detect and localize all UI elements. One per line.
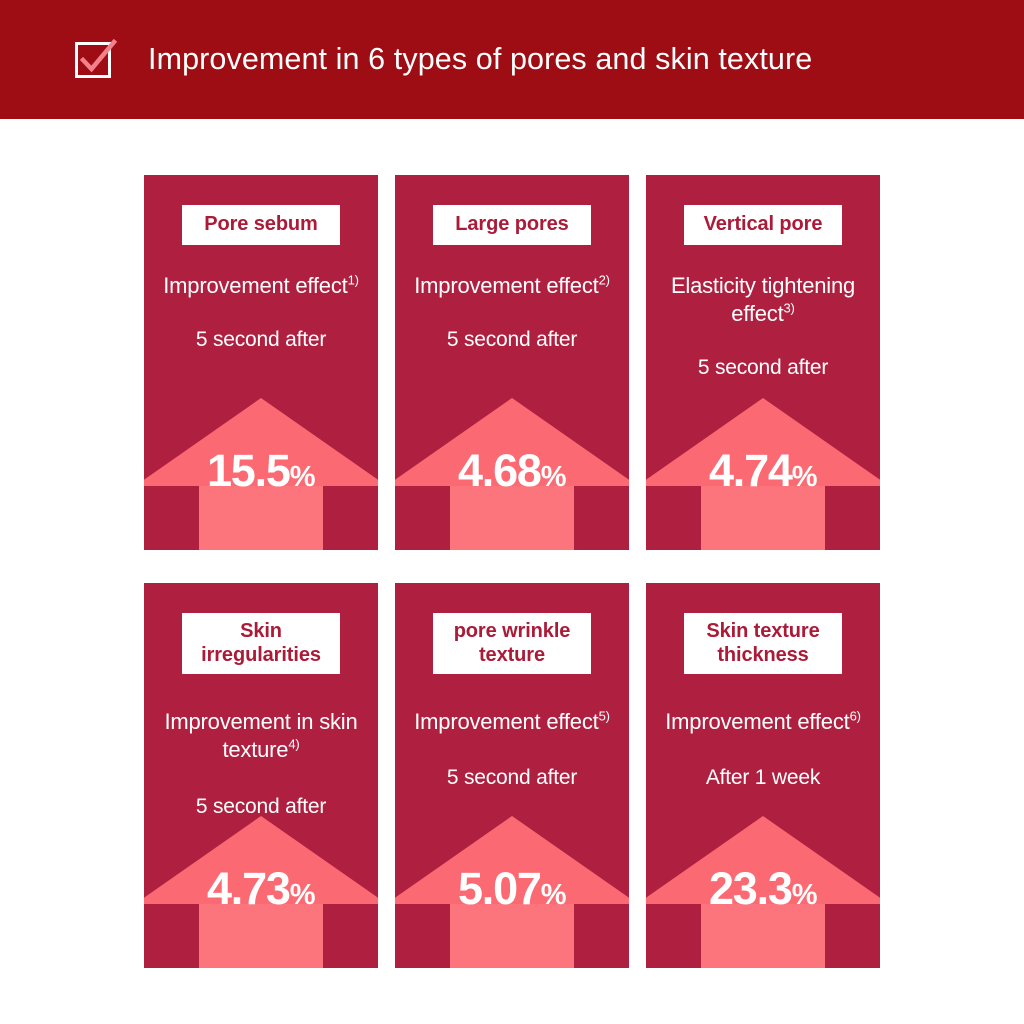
card-timing-label: 5 second after	[698, 356, 828, 380]
card-chip-label: Pore sebum	[182, 205, 340, 245]
card-chip-label: Vertical pore	[684, 205, 842, 245]
card-chip-line-1: pore wrinkle	[447, 620, 577, 644]
card-skin-texture-thickness: Skin texture thickness Improvement effec…	[646, 583, 880, 968]
card-value-number: 4.68	[458, 445, 541, 496]
card-value-number: 23.3	[709, 863, 792, 914]
card-footnote-marker: 3)	[784, 300, 795, 315]
card-chip-label: Skin irregularities	[182, 613, 340, 674]
card-value-percent: %	[792, 879, 817, 911]
card-measure-label: Improvement effect2)	[414, 272, 609, 300]
card-value: 4.68%	[395, 448, 629, 493]
card-measure-text: Improvement effect	[665, 709, 849, 734]
card-value-percent: %	[290, 461, 315, 493]
card-measure-label: Improvement effect6)	[665, 708, 860, 736]
card-footnote-marker: 1)	[348, 272, 359, 287]
header-banner: Improvement in 6 types of pores and skin…	[0, 0, 1024, 119]
card-value: 23.3%	[646, 866, 880, 911]
card-measure-label: Improvement in skin texture4)	[160, 708, 362, 764]
card-value: 5.07%	[395, 866, 629, 911]
card-measure-text: Improvement effect	[414, 273, 598, 298]
card-measure-label: Improvement effect1)	[163, 272, 358, 300]
card-timing-label: 5 second after	[196, 328, 326, 352]
card-chip-line-2: irregularities	[196, 644, 326, 668]
card-value-percent: %	[541, 879, 566, 911]
card-chip-line-2: texture	[447, 644, 577, 668]
card-chip-line-2: thickness	[698, 644, 828, 668]
card-measure-label: Improvement effect5)	[414, 708, 609, 736]
card-measure-label: Elasticity tightening effect3)	[662, 272, 864, 328]
card-chip-label: pore wrinkle texture	[433, 613, 591, 674]
card-footnote-marker: 2)	[599, 272, 610, 287]
card-measure-text: Improvement effect	[414, 709, 598, 734]
card-vertical-pore: Vertical pore Elasticity tightening effe…	[646, 175, 880, 550]
card-value-percent: %	[792, 461, 817, 493]
card-pore-wrinkle-texture: pore wrinkle texture Improvement effect5…	[395, 583, 629, 968]
infographic-page: Improvement in 6 types of pores and skin…	[0, 0, 1024, 1024]
card-value: 4.74%	[646, 448, 880, 493]
cards-grid: Pore sebum Improvement effect1) 5 second…	[144, 175, 880, 968]
card-chip-label: Large pores	[433, 205, 591, 245]
card-value-number: 15.5	[207, 445, 290, 496]
card-value-number: 4.73	[207, 863, 290, 914]
card-skin-irregularities: Skin irregularities Improvement in skin …	[144, 583, 378, 968]
card-footnote-marker: 5)	[599, 709, 610, 724]
card-value-number: 4.74	[709, 445, 792, 496]
card-timing-label: After 1 week	[706, 766, 820, 790]
card-timing-label: 5 second after	[447, 328, 577, 352]
card-measure-text: Improvement effect	[163, 273, 347, 298]
card-value-number: 5.07	[458, 863, 541, 914]
card-value-percent: %	[290, 879, 315, 911]
card-chip-label: Skin texture thickness	[684, 613, 842, 674]
card-value: 15.5%	[144, 448, 378, 493]
card-measure-text: Improvement in skin texture	[164, 709, 357, 762]
card-measure-text: Elasticity tightening effect	[671, 273, 855, 326]
page-title: Improvement in 6 types of pores and skin…	[148, 42, 812, 77]
checkbox-checked-icon	[74, 39, 114, 79]
card-chip-line-1: Skin texture	[698, 620, 828, 644]
card-timing-label: 5 second after	[447, 766, 577, 790]
card-footnote-marker: 6)	[850, 709, 861, 724]
card-value-percent: %	[541, 461, 566, 493]
card-value: 4.73%	[144, 866, 378, 911]
card-chip-line-1: Skin	[196, 620, 326, 644]
card-pore-sebum: Pore sebum Improvement effect1) 5 second…	[144, 175, 378, 550]
card-timing-label: 5 second after	[196, 795, 326, 819]
card-footnote-marker: 4)	[288, 737, 299, 752]
card-large-pores: Large pores Improvement effect2) 5 secon…	[395, 175, 629, 550]
